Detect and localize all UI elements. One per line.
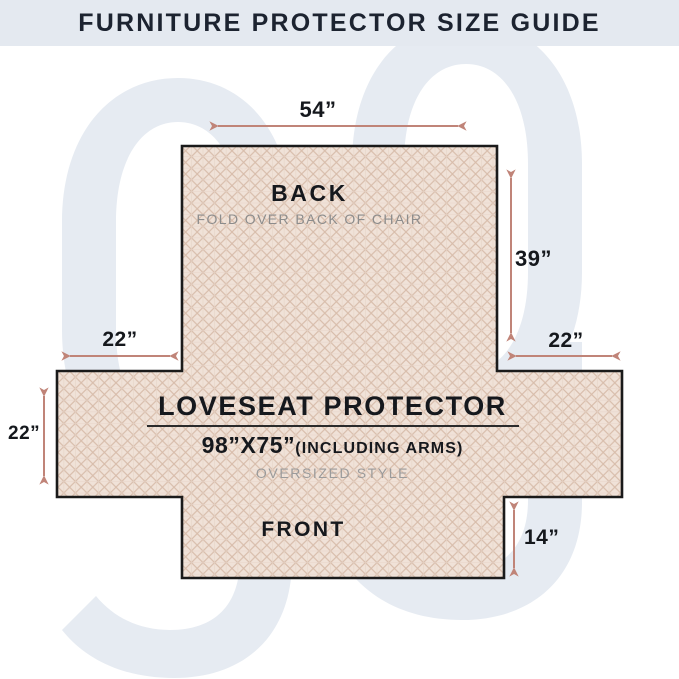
product-dimensions-value: 98”X75”	[202, 432, 296, 458]
dimension-label-arm-depth: 22”	[8, 424, 40, 443]
product-dimensions-note: (INCLUDING ARMS)	[295, 440, 463, 457]
dimension-label-right-arm-width: 22”	[548, 330, 583, 351]
page-title-bar: FURNITURE PROTECTOR SIZE GUIDE	[0, 0, 679, 46]
product-style: OVERSIZED STYLE	[0, 465, 672, 481]
page-title: FURNITURE PROTECTOR SIZE GUIDE	[78, 11, 601, 36]
back-panel-label: BACK	[0, 182, 649, 205]
product-dimensions: 98”X75”(INCLUDING ARMS)	[0, 433, 672, 458]
center-info-block: LOVESEAT PROTECTOR 98”X75”(INCLUDING ARM…	[0, 392, 672, 481]
size-guide-canvas: FURNITURE PROTECTOR SIZE GUIDE	[0, 0, 679, 679]
product-title: LOVESEAT PROTECTOR	[0, 392, 672, 420]
title-underline	[147, 425, 519, 427]
dimension-label-front-drop: 14”	[524, 527, 559, 548]
dimension-label-back-height: 39”	[515, 248, 552, 270]
back-panel-sublabel: FOLD OVER BACK OF CHAIR	[0, 212, 649, 226]
dimension-label-left-arm-width: 22”	[102, 329, 137, 350]
dimension-label-back-width: 54”	[300, 99, 337, 121]
